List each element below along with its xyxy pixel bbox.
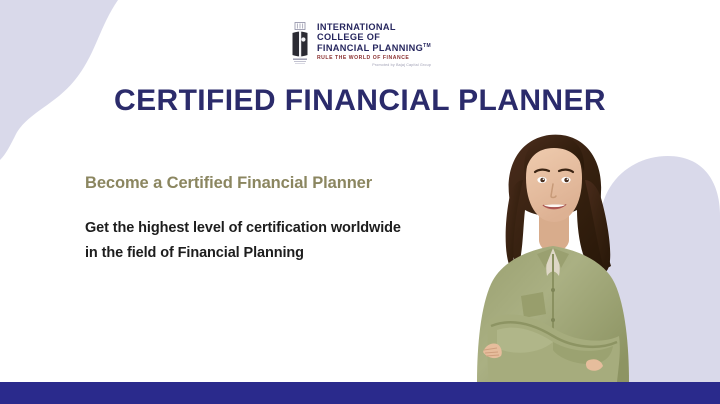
logo-line-2: COLLEGE OF	[317, 33, 431, 43]
subheading: Become a Certified Financial Planner	[85, 172, 415, 194]
logo-subtagline: Promoted by Bajaj Capital Group	[317, 63, 431, 68]
promo-banner: INTERNATIONAL COLLEGE OF FINANCIAL PLANN…	[0, 0, 720, 404]
logo-line-3: FINANCIAL PLANNINGTM	[317, 42, 431, 54]
bottom-accent-bar	[0, 382, 720, 404]
logo-tagline: RULE THE WORLD OF FINANCE	[317, 55, 431, 63]
copy-block: Become a Certified Financial Planner Get…	[85, 172, 415, 266]
logo: INTERNATIONAL COLLEGE OF FINANCIAL PLANN…	[0, 22, 720, 68]
logo-line-3-text: FINANCIAL PLANNING	[317, 43, 423, 53]
trademark-symbol: TM	[423, 43, 431, 49]
person-photo	[453, 114, 658, 382]
body-text: Get the highest level of certification w…	[85, 216, 415, 266]
icfp-crest-emblem	[289, 22, 311, 66]
